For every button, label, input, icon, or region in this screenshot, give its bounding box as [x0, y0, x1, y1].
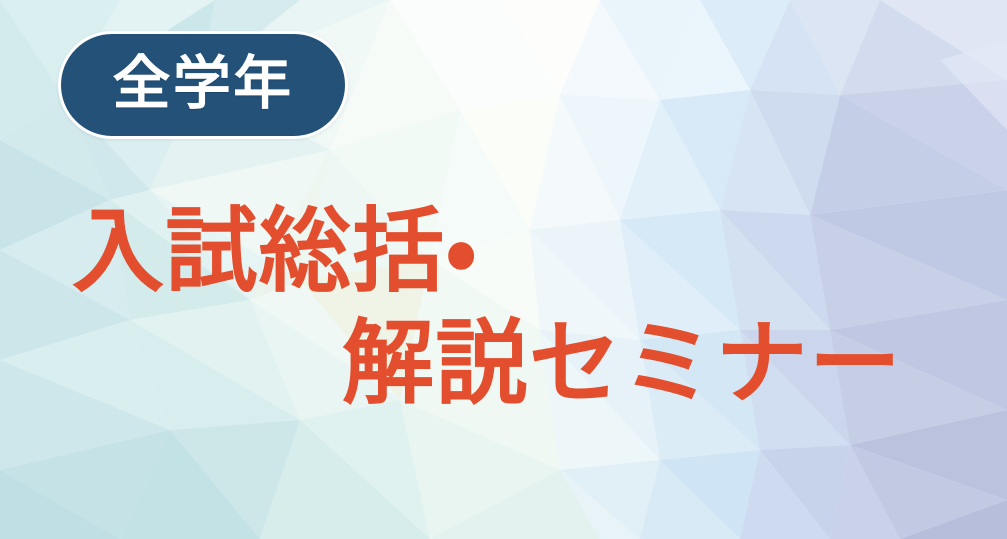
headline-line-2: 解説セミナー — [0, 308, 1007, 420]
grade-badge: 全学年 — [58, 31, 348, 139]
seminar-banner: 全学年 入試総括・ 解説セミナー — [0, 0, 1007, 539]
headline-line-1: 入試総括・ — [0, 196, 1007, 308]
headline: 入試総括・ 解説セミナー — [0, 196, 1007, 420]
grade-badge-label: 全学年 — [113, 55, 294, 116]
